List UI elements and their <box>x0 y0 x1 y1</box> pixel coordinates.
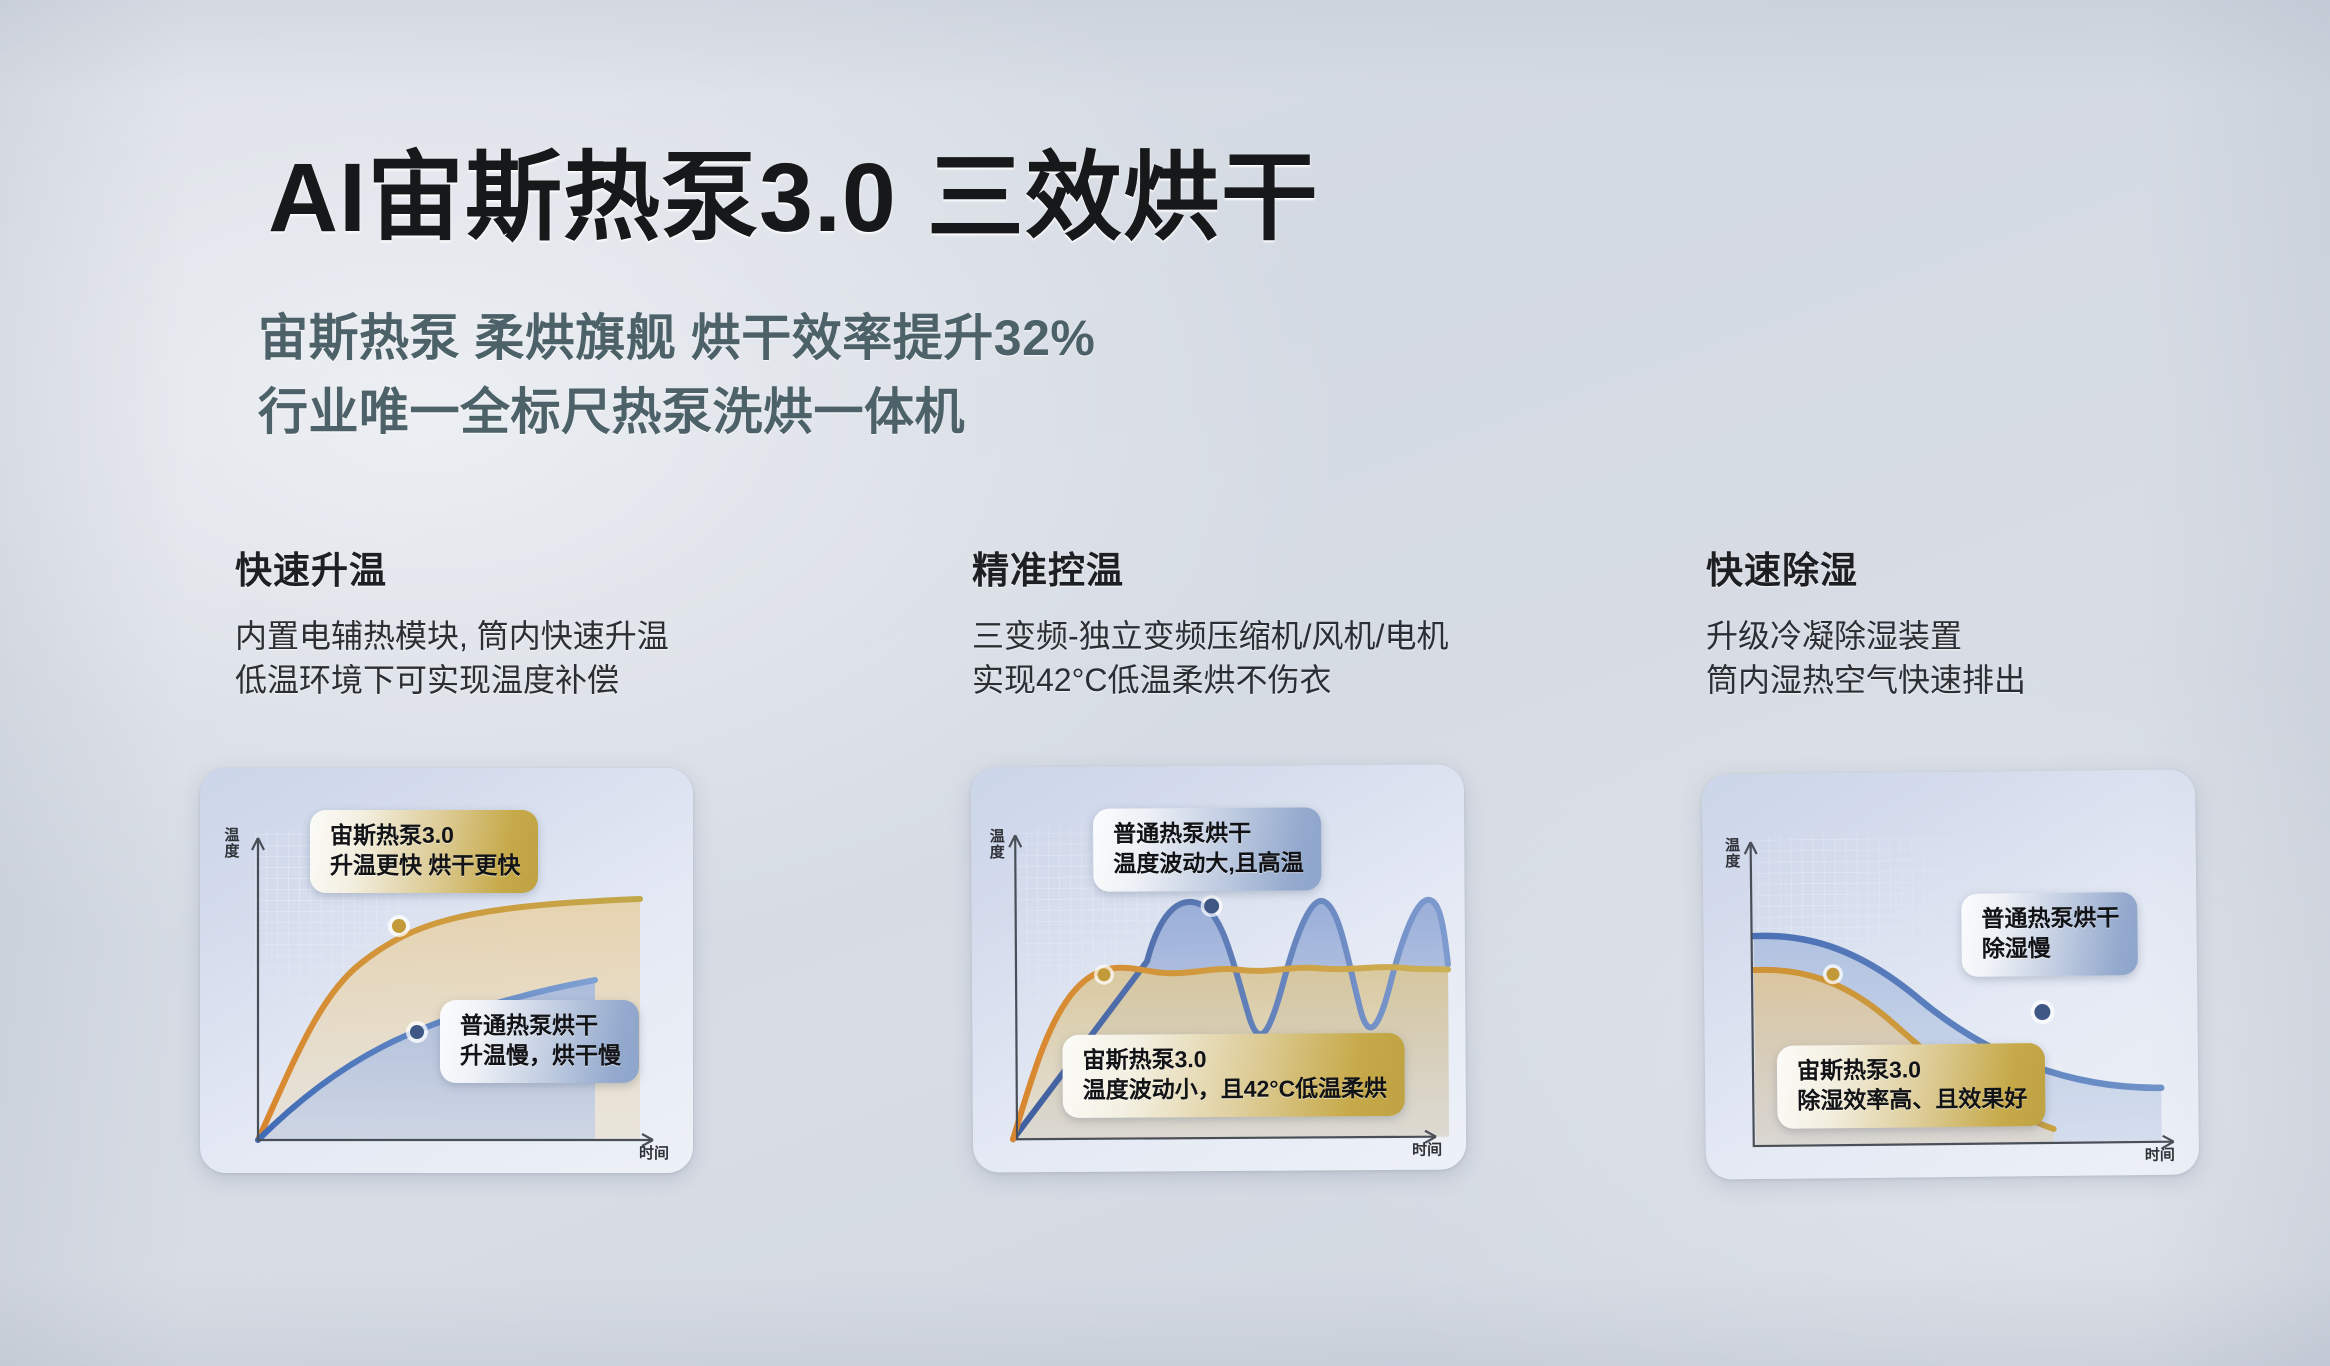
feature-title-1: 快速升温 <box>235 540 669 594</box>
callout-blue-2: 普通热泵烘干 温度波动大,且高温 <box>1093 807 1322 891</box>
feature-desc-3-line-2: 筒内湿热空气快速排出 <box>1706 658 2026 702</box>
feature-desc-2-line-1: 三变频-独立变频压缩机/风机/电机 <box>972 614 1448 658</box>
callout-blue-2-line1: 普通热泵烘干 <box>1113 817 1304 849</box>
y-axis-label-2: 温度 <box>987 829 1007 861</box>
marker-gold-1 <box>392 919 406 933</box>
callout-gold-1: 宙斯热泵3.0 升温更快 烘干更快 <box>310 810 538 893</box>
chart-plot-3: 温度 时间 普通热泵烘干 除湿慢 宙斯热泵3.0 除湿效率高、且效果好 <box>1702 769 2199 1179</box>
y-axis-label-char-1: 度 <box>1723 854 1743 870</box>
marker-blue-1 <box>410 1025 424 1039</box>
x-axis-label-3: 时间 <box>2145 1144 2175 1165</box>
callout-blue-1: 普通热泵烘干 升温慢，烘干慢 <box>440 1000 639 1083</box>
subtitle-line-2: 行业唯一全标尺热泵洗烘一体机 <box>258 372 965 444</box>
x-axis-label-2: 时间 <box>1412 1139 1442 1160</box>
subtitle-line-1: 宙斯热泵 柔烘旗舰 烘干效率提升32% <box>258 298 1095 370</box>
headline-main: AI宙斯热泵3.0 <box>268 143 897 252</box>
feature-column-1: 快速升温 内置电辅热模块, 筒内快速升温 低温环境下可实现温度补偿 <box>235 540 669 702</box>
y-axis-label-char-0: 温 <box>987 829 1007 845</box>
chart-card-dehumidify: 温度 时间 普通热泵烘干 除湿慢 宙斯热泵3.0 除湿效率高、且效果好 <box>1702 769 2199 1179</box>
callout-blue-3-line1: 普通热泵烘干 <box>1981 902 2119 934</box>
callout-blue-3-line2: 除湿慢 <box>1982 933 2120 965</box>
feature-column-3: 快速除湿 升级冷凝除湿装置 筒内湿热空气快速排出 <box>1706 540 2026 702</box>
feature-desc-2-line-2: 实现42°C低温柔烘不伤衣 <box>972 658 1448 702</box>
callout-gold-1-line1: 宙斯热泵3.0 <box>330 820 520 850</box>
callout-blue-2-line2: 温度波动大,且高温 <box>1113 848 1304 880</box>
chart-plot-1: 温度 时间 宙斯热泵3.0 升温更快 烘干更快 普通热泵烘干 升温慢，烘干慢 <box>200 768 693 1173</box>
x-axis-label-1: 时间 <box>639 1142 669 1163</box>
callout-gold-3: 宙斯热泵3.0 除湿效率高、且效果好 <box>1777 1043 2046 1129</box>
poster-root: AI宙斯热泵3.0三效烘干 宙斯热泵 柔烘旗舰 烘干效率提升32% 行业唯一全标… <box>0 0 2330 1366</box>
feature-title-2: 精准控温 <box>972 540 1448 594</box>
chart-card-heating: 温度 时间 宙斯热泵3.0 升温更快 烘干更快 普通热泵烘干 升温慢，烘干慢 <box>200 768 693 1173</box>
y-axis-label-char-0: 温 <box>222 828 242 844</box>
callout-gold-1-line2: 升温更快 烘干更快 <box>330 850 520 880</box>
chart-card-temperature-control: 温度 时间 普通热泵烘干 温度波动大,且高温 宙斯热泵3.0 温度波动小，且42… <box>971 764 1466 1172</box>
marker-gold-2 <box>1097 968 1110 981</box>
page-title: AI宙斯热泵3.0三效烘干 <box>268 118 1319 259</box>
callout-blue-1-line1: 普通热泵烘干 <box>460 1010 621 1040</box>
feature-desc-1-line-1: 内置电辅热模块, 筒内快速升温 <box>235 614 669 658</box>
y-axis-label-3: 温度 <box>1723 838 1743 871</box>
y-axis-label-char-0: 温 <box>1723 838 1743 854</box>
marker-blue-2 <box>1204 898 1219 913</box>
callout-gold-3-line2: 除湿效率高、且效果好 <box>1797 1084 2027 1117</box>
feature-column-2: 精准控温 三变频-独立变频压缩机/风机/电机 实现42°C低温柔烘不伤衣 <box>972 540 1448 702</box>
callout-gold-2-line2: 温度波动小，且42°C低温柔烘 <box>1083 1073 1388 1105</box>
feature-title-3: 快速除湿 <box>1706 540 2026 594</box>
headline-sub: 三效烘干 <box>927 143 1319 252</box>
chart-plot-2: 温度 时间 普通热泵烘干 温度波动大,且高温 宙斯热泵3.0 温度波动小，且42… <box>971 764 1466 1172</box>
feature-desc-3-line-1: 升级冷凝除湿装置 <box>1706 614 2026 658</box>
callout-blue-3: 普通热泵烘干 除湿慢 <box>1961 892 2138 977</box>
callout-gold-2-line1: 宙斯热泵3.0 <box>1082 1043 1387 1075</box>
y-axis-label-1: 温度 <box>222 828 242 860</box>
callout-gold-3-line1: 宙斯热泵3.0 <box>1797 1053 2027 1086</box>
y-axis-label-char-1: 度 <box>222 844 242 860</box>
callout-blue-1-line2: 升温慢，烘干慢 <box>460 1040 621 1070</box>
callout-gold-2: 宙斯热泵3.0 温度波动小，且42°C低温柔烘 <box>1062 1033 1405 1118</box>
feature-desc-1-line-2: 低温环境下可实现温度补偿 <box>235 658 669 702</box>
y-axis-label-char-1: 度 <box>987 845 1007 861</box>
